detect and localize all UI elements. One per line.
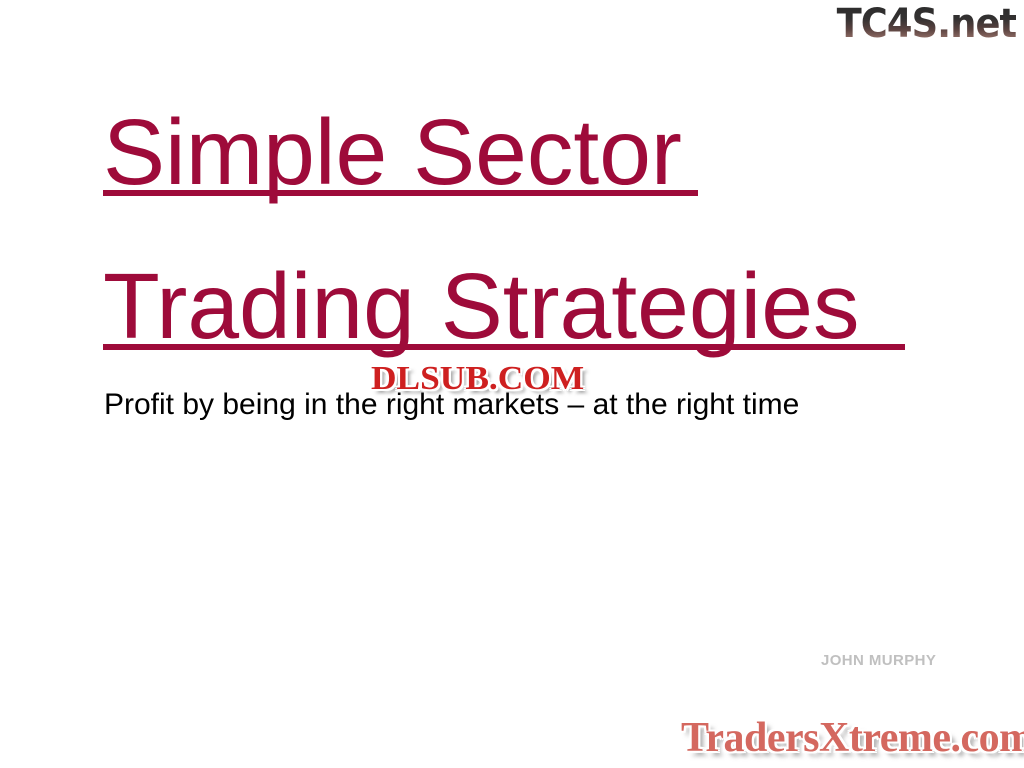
page-title-line-2: Trading Strategies: [103, 258, 933, 354]
title-block: Simple Sector Trading Strategies: [103, 104, 933, 354]
page-title-line-1-text: Simple Sector: [103, 100, 682, 204]
title-underline-1: [103, 190, 698, 196]
dlsub-watermark: DLSUB.COM: [371, 362, 584, 396]
author-credit: JOHN MURPHY: [821, 652, 936, 669]
page-title-line-2-text: Trading Strategies: [103, 254, 859, 358]
tradersxtreme-watermark: TradersXtreme.com: [681, 714, 1024, 762]
title-underline-2: [103, 344, 905, 350]
tc4s-site-logo: TC4S.net: [836, 2, 1016, 46]
presentation-slide: TC4S.net Simple Sector Trading Strategie…: [0, 0, 1024, 768]
page-title-line-1: Simple Sector: [103, 104, 933, 200]
